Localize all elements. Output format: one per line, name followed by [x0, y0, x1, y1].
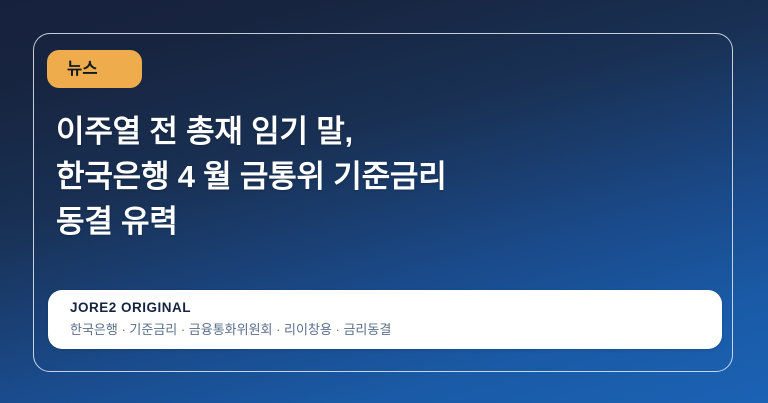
footer-card: JORE2 ORIGINAL 한국은행 · 기준금리 · 금융통화위원회 · 리… [48, 290, 722, 349]
category-badge[interactable]: 뉴스 [47, 50, 142, 88]
news-card-canvas: 뉴스 이주열 전 총재 임기 말, 한국은행 4 월 금통위 기준금리 동결 유… [0, 0, 768, 403]
headline: 이주열 전 총재 임기 말, 한국은행 4 월 금통위 기준금리 동결 유력 [56, 109, 696, 244]
headline-line-3: 동결 유력 [56, 199, 696, 244]
headline-line-1: 이주열 전 총재 임기 말, [56, 109, 696, 154]
tag-list[interactable]: 한국은행 · 기준금리 · 금융통화위원회 · 리이창용 · 금리동결 [70, 321, 700, 339]
brand-label: JORE2 ORIGINAL [70, 299, 700, 317]
headline-line-2: 한국은행 4 월 금통위 기준금리 [56, 154, 696, 199]
category-badge-label: 뉴스 [67, 61, 98, 78]
